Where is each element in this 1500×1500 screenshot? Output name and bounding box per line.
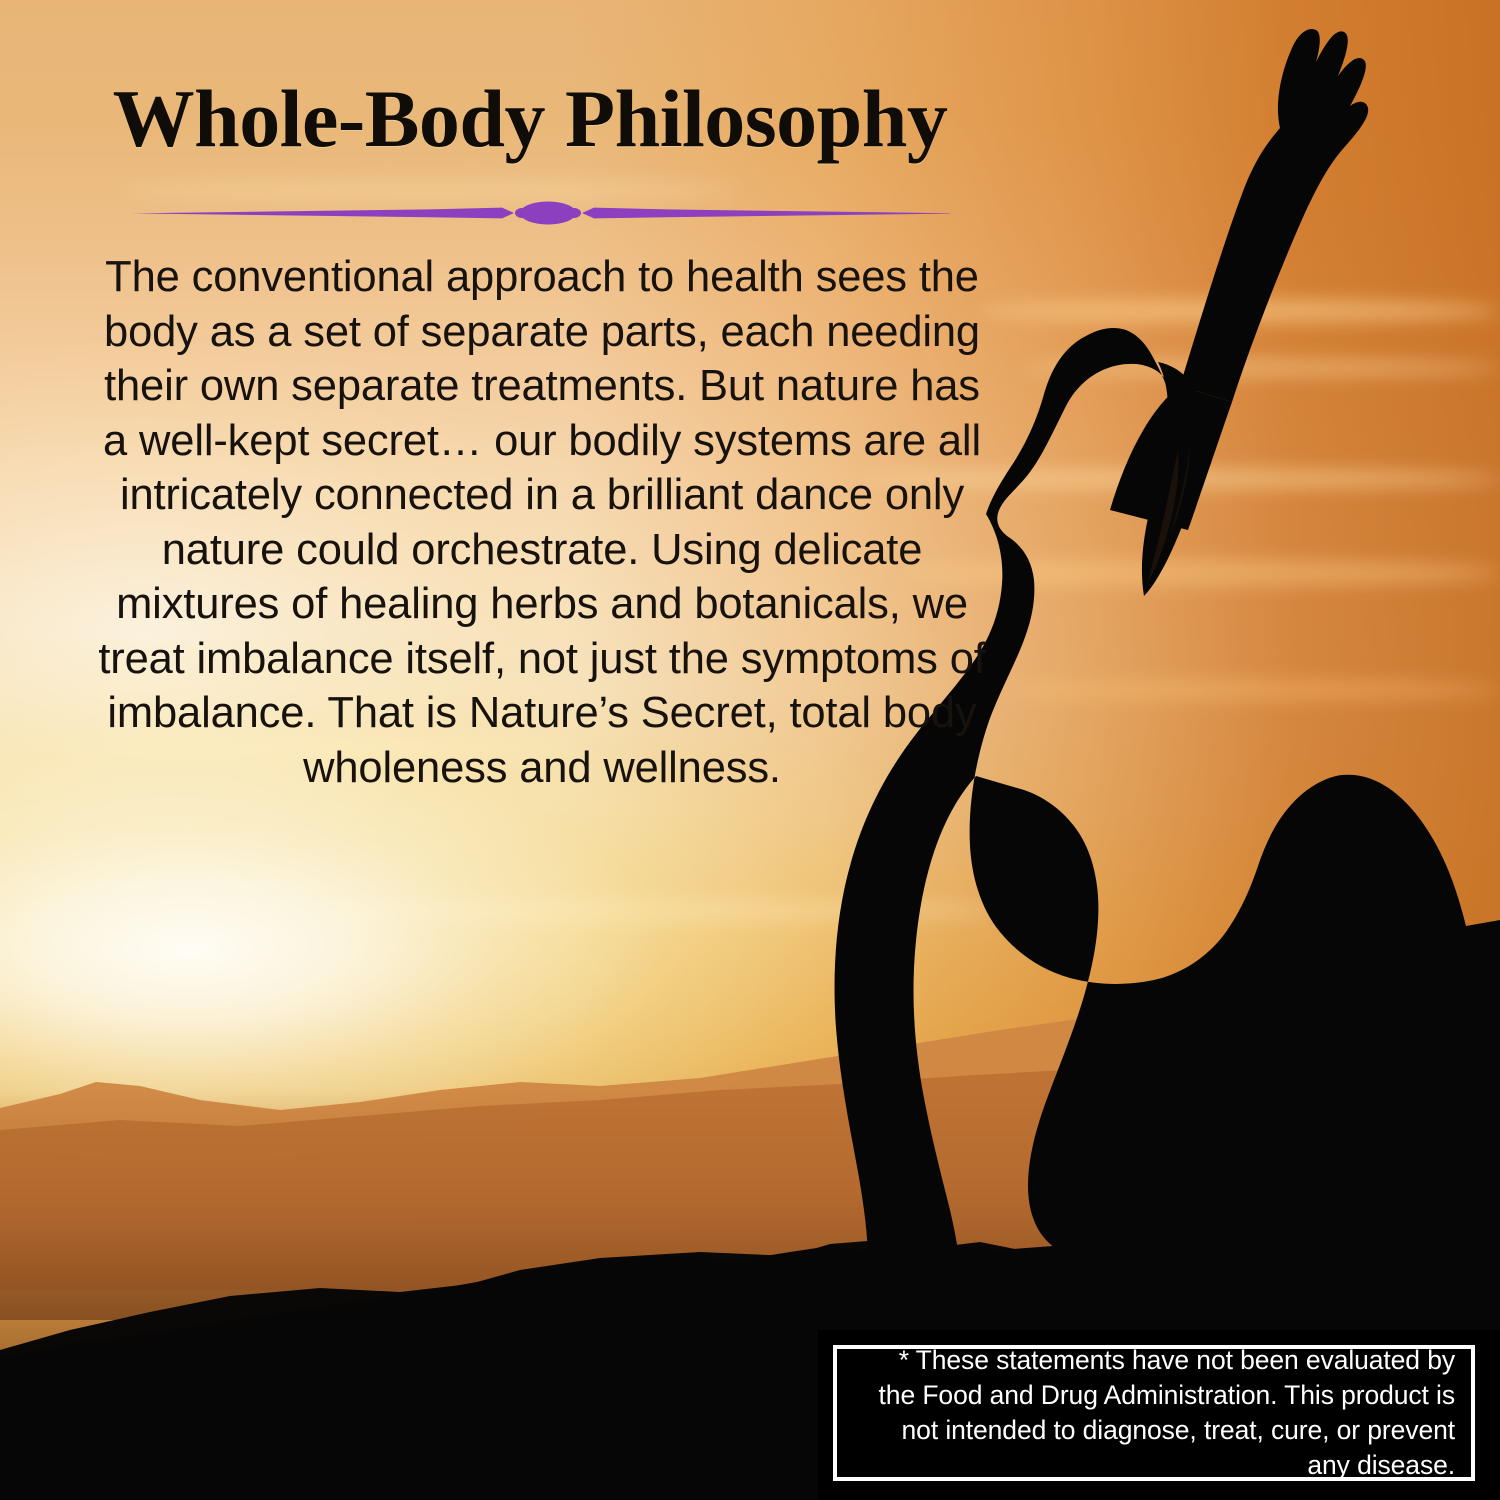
philosophy-body-text: The conventional approach to health sees…: [88, 250, 996, 795]
page-title: Whole-Body Philosophy: [0, 78, 1060, 160]
fda-disclaimer-text: * These statements have not been evaluat…: [837, 1343, 1471, 1483]
philosophy-paragraph: The conventional approach to health sees…: [88, 250, 996, 795]
promotional-graphic: Whole-Body Philosophy The conventional a…: [0, 0, 1500, 1500]
ornamental-flourish-divider-icon: [130, 196, 950, 230]
fda-disclaimer-box: * These statements have not been evaluat…: [833, 1345, 1475, 1481]
